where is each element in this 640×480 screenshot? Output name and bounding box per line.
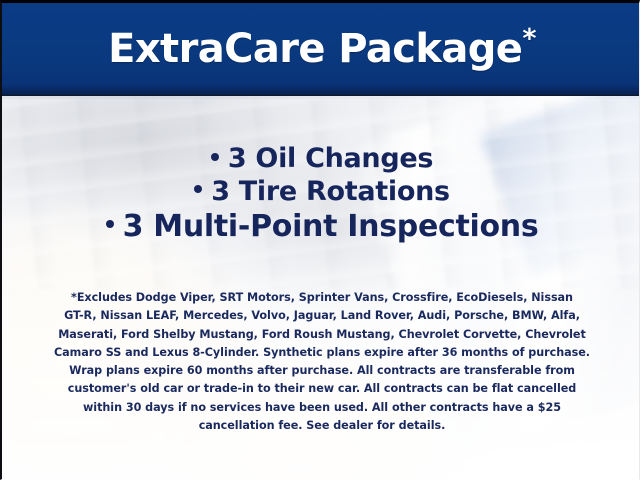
page-title-text: ExtraCare Package bbox=[108, 26, 522, 72]
disclaimer-line: Camaro SS and Lexus 8-Cylinder. Syntheti… bbox=[32, 344, 612, 362]
benefits-list: 3 Oil Changes 3 Tire Rotations 3 Multi-P… bbox=[2, 143, 640, 245]
benefit-label: 3 Tire Rotations bbox=[211, 176, 450, 207]
bullet-dot-icon bbox=[211, 153, 219, 161]
bullet-dot-icon bbox=[106, 220, 114, 228]
page-title-asterisk: * bbox=[522, 24, 536, 55]
disclaimer-line: Wrap plans expire 60 months after purcha… bbox=[32, 362, 612, 380]
page-title: ExtraCare Package* bbox=[108, 29, 536, 69]
disclaimer-line: within 30 days if no services have been … bbox=[32, 399, 612, 417]
benefit-label: 3 Multi-Point Inspections bbox=[123, 209, 539, 244]
benefit-label: 3 Oil Changes bbox=[228, 143, 433, 174]
disclaimer-line: Maserati, Ford Shelby Mustang, Ford Rous… bbox=[32, 326, 612, 344]
list-item: 3 Tire Rotations bbox=[2, 176, 640, 209]
disclaimer-line: GT-R, Nissan LEAF, Mercedes, Volvo, Jagu… bbox=[32, 307, 612, 325]
list-item: 3 Multi-Point Inspections bbox=[2, 209, 640, 246]
disclaimer-line: *Excludes Dodge Viper, SRT Motors, Sprin… bbox=[32, 289, 612, 307]
list-item: 3 Oil Changes bbox=[2, 143, 640, 176]
bullet-dot-icon bbox=[194, 185, 202, 193]
disclaimer-text: *Excludes Dodge Viper, SRT Motors, Sprin… bbox=[32, 289, 612, 435]
header-band: ExtraCare Package* bbox=[2, 3, 640, 95]
disclaimer-line: cancellation fee. See dealer for details… bbox=[32, 417, 612, 435]
extracare-package-ad: ExtraCare Package* 3 Oil Changes 3 Tire … bbox=[0, 0, 640, 480]
disclaimer-line: customer's old car or trade-in to their … bbox=[32, 380, 612, 398]
